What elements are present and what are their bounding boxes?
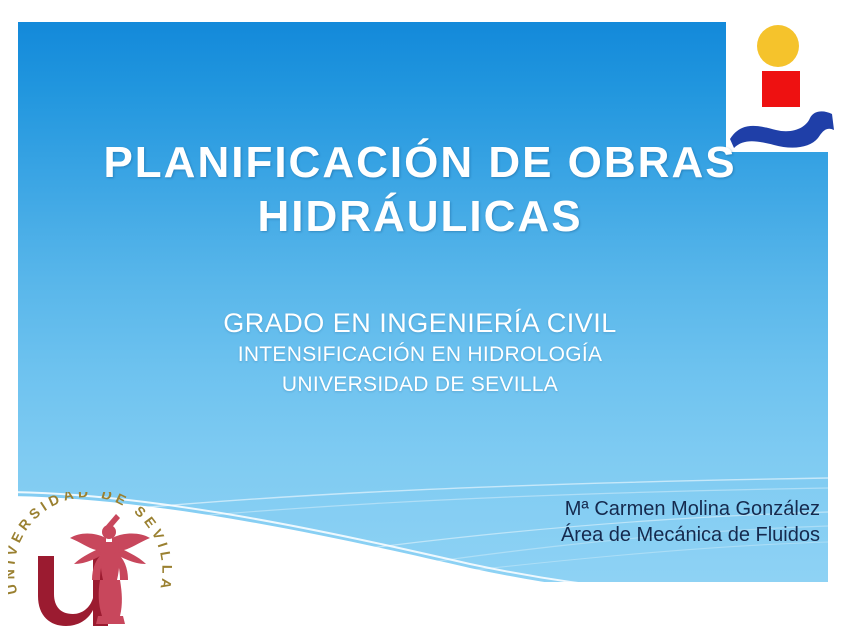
author-name: Mª Carmen Molina González xyxy=(420,496,820,522)
title-line-2: HIDRÁULICAS xyxy=(40,190,800,244)
slide-margin-top xyxy=(0,0,848,22)
seal-angel-figure xyxy=(70,514,150,624)
title-line-1: PLANIFICACIÓN DE OBRAS xyxy=(40,136,800,190)
corporate-logo xyxy=(726,14,840,152)
author-credit: Mª Carmen Molina González Área de Mecáni… xyxy=(420,496,820,548)
slide-title: PLANIFICACIÓN DE OBRAS HIDRÁULICAS xyxy=(40,136,800,244)
subtitle-line-specialization: INTENSIFICACIÓN EN HIDROLOGÍA xyxy=(40,340,800,370)
gold-circle-icon xyxy=(757,25,799,67)
author-department: Área de Mecánica de Fluidos xyxy=(420,522,820,548)
subtitle-line-degree: GRADO EN INGENIERÍA CIVIL xyxy=(40,306,800,340)
subtitle-line-university: UNIVERSIDAD DE SEVILLA xyxy=(40,370,800,400)
red-square-icon xyxy=(762,71,800,107)
universidad-de-sevilla-seal: UNIVERSIDAD DE SEVILLA xyxy=(8,492,180,636)
slide-subtitle: GRADO EN INGENIERÍA CIVIL INTENSIFICACIÓ… xyxy=(40,306,800,400)
presentation-slide: PLANIFICACIÓN DE OBRAS HIDRÁULICAS GRADO… xyxy=(0,0,848,636)
